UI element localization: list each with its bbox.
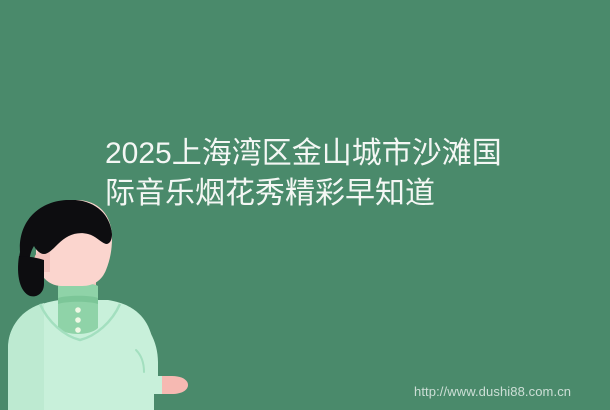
person-illustration [0, 200, 200, 410]
hair-back [18, 256, 44, 296]
button-1 [75, 307, 81, 313]
headline-text: 2025上海湾区金山城市沙滩国际音乐烟花秀精彩早知道 [105, 134, 515, 214]
image-canvas: 2025上海湾区金山城市沙滩国际音乐烟花秀精彩早知道 http://www.du… [0, 0, 610, 410]
button-2 [75, 317, 81, 323]
torso-shadow [8, 303, 44, 410]
button-3 [75, 327, 81, 333]
watermark-url: http://www.dushi88.com.cn [414, 384, 571, 399]
hand [162, 376, 188, 394]
